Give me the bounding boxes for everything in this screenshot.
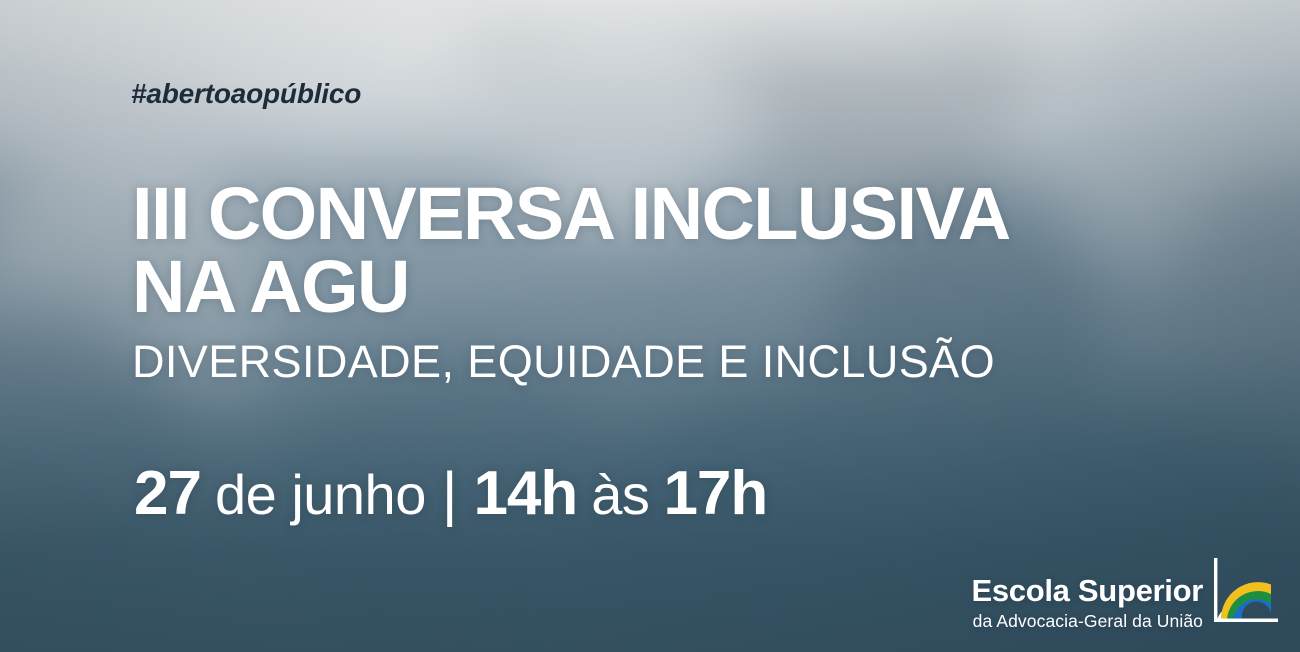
event-day: 27 [134, 458, 201, 529]
event-datetime: 27 de junho | 14h às 17h [134, 458, 767, 529]
logo-title: Escola Superior [971, 575, 1203, 606]
event-month: de junho [215, 462, 426, 527]
event-title-line-1: III CONVERSA INCLUSIVA [132, 178, 1010, 251]
agu-arcs-icon [1208, 556, 1284, 630]
logo-text-block: Escola Superior da Advocacia-Geral da Un… [971, 575, 1203, 631]
event-time-end: 17h [663, 458, 767, 529]
datetime-separator: | [442, 459, 458, 528]
hashtag-text: #abertoaopúblico [131, 78, 361, 110]
banner-content: #abertoaopúblico III CONVERSA INCLUSIVA … [0, 0, 1300, 652]
title-block: III CONVERSA INCLUSIVA NA AGU DIVERSIDAD… [132, 178, 1010, 384]
escola-superior-logo: Escola Superior da Advocacia-Geral da Un… [971, 556, 1284, 630]
event-title-line-2: NA AGU [132, 251, 1010, 324]
event-subtitle: DIVERSIDADE, EQUIDADE E INCLUSÃO [132, 339, 1010, 384]
logo-subtitle: da Advocacia-Geral da União [971, 613, 1203, 631]
event-banner: #abertoaopúblico III CONVERSA INCLUSIVA … [0, 0, 1300, 652]
event-time-connector: às [591, 462, 649, 527]
event-time-start: 14h [473, 458, 577, 529]
